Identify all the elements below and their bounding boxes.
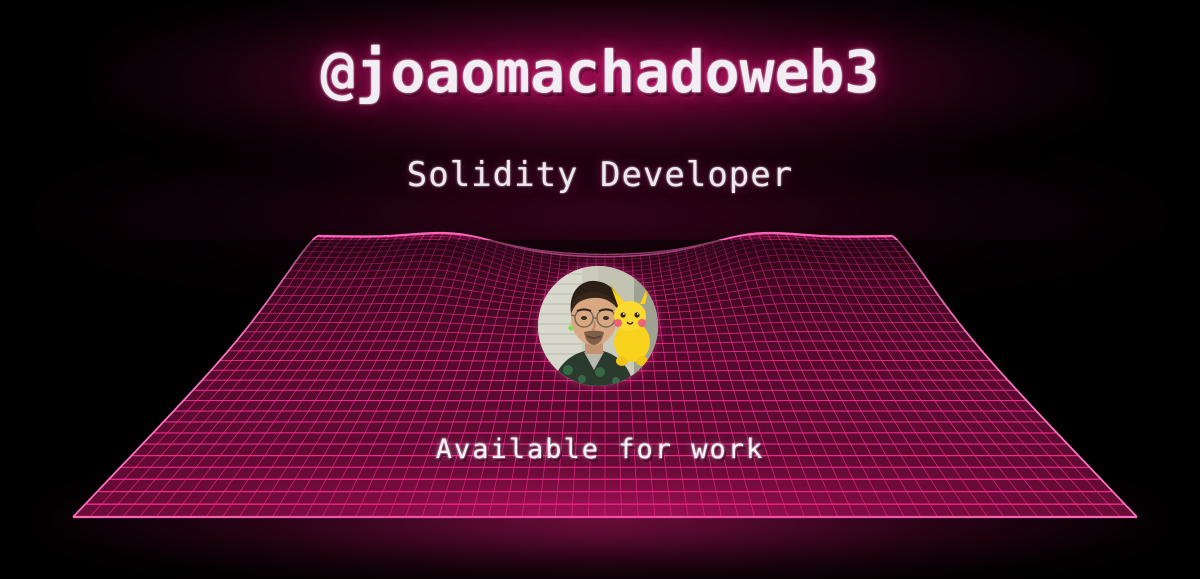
avatar-icon	[538, 266, 658, 386]
floor-glow	[35, 460, 1165, 579]
profile-banner: @joaomachadoweb3 Solidity Developer Avai…	[0, 0, 1200, 579]
subtitle: Solidity Developer	[0, 155, 1200, 195]
page-title: @joaomachadoweb3	[0, 38, 1200, 106]
avatar[interactable]	[538, 266, 658, 386]
status-badge: Available for work	[0, 434, 1200, 465]
